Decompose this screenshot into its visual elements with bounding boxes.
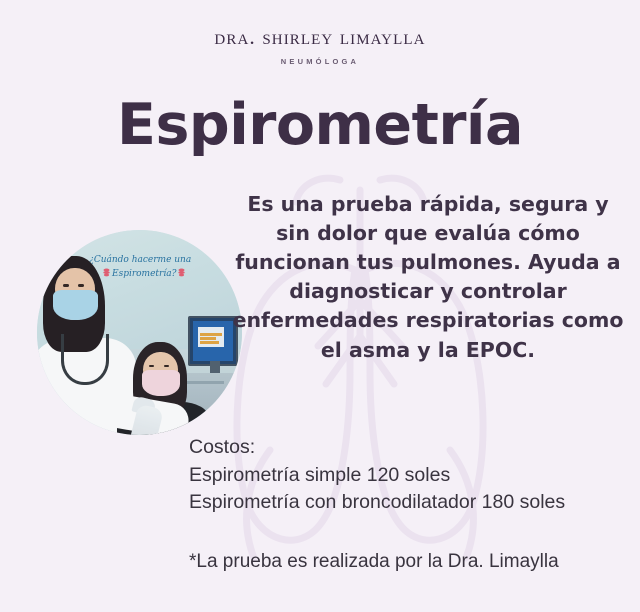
page-title: Espirometría [0, 95, 640, 157]
monitor-screen [193, 321, 233, 361]
poster-canvas: Dra. Shirley Limaylla NEUMÓLOGA Espirome… [0, 0, 640, 612]
costs-heading: Costos: [189, 434, 639, 462]
doctor-name: Dra. Shirley Limaylla [0, 26, 640, 50]
monitor-stand [210, 361, 220, 373]
patient-eye [164, 365, 169, 367]
monitor-bar [200, 341, 219, 344]
monitor-bar [200, 337, 216, 340]
doctor-eye [63, 284, 69, 287]
footnote: *La prueba es realizada por la Dra. Lima… [189, 551, 640, 573]
doctor-eye [78, 284, 84, 287]
doctor-specialty: NEUMÓLOGA [0, 57, 640, 66]
brand-header: Dra. Shirley Limaylla NEUMÓLOGA [0, 26, 640, 66]
patient-face-mask [142, 370, 180, 396]
cabinet-edge [184, 381, 224, 384]
doctor-face-mask [53, 290, 98, 320]
cost-item-bronchodilator: Espirometría con broncodilatador 180 sol… [189, 489, 639, 517]
monitor-bar [200, 333, 222, 336]
photo-scene: ¿Cuándo hacerme una Espirometría? [37, 230, 242, 435]
stethoscope-icon [61, 334, 109, 385]
cost-item-simple: Espirometría simple 120 soles [189, 462, 639, 490]
costs-block: Costos: Espirometría simple 120 soles Es… [189, 434, 639, 517]
patient-eye [149, 365, 154, 367]
clinic-photo: ¿Cuándo hacerme una Espirometría? [37, 230, 242, 435]
lead-description: Es una prueba rápida, segura y sin dolor… [228, 190, 628, 365]
